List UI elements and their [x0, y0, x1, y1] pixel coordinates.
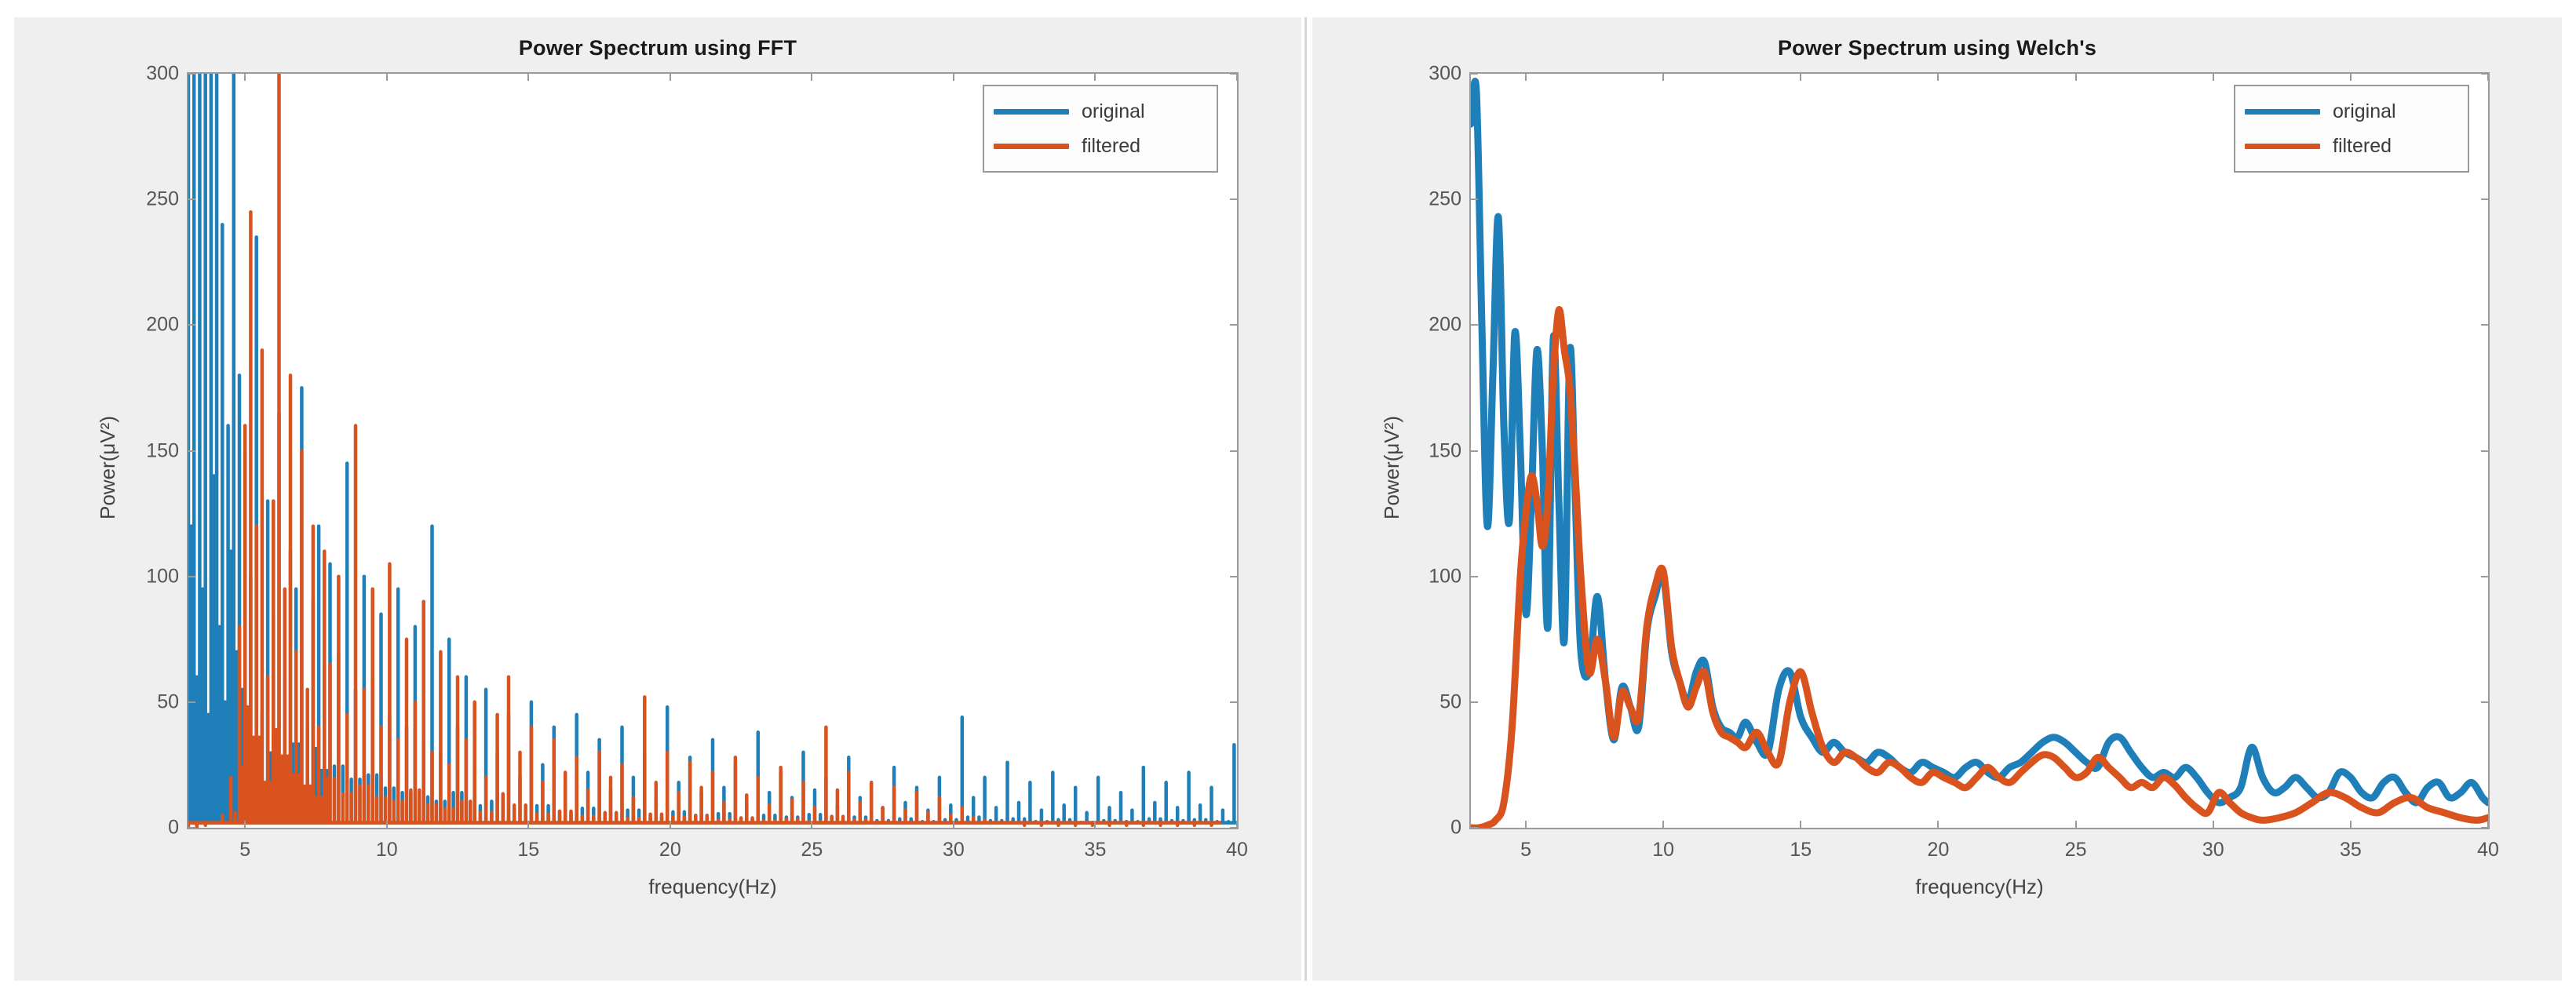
y-tick-label: 100 — [146, 565, 179, 588]
x-tick-label: 30 — [2202, 839, 2224, 861]
legend-label: original — [2333, 100, 2396, 123]
x-tick-label: 15 — [1790, 839, 1812, 861]
panel-welch: Power Spectrum using Welch's 05010015020… — [1312, 17, 2562, 981]
x-tick-mark — [2213, 74, 2214, 81]
y-tick-label: 200 — [146, 314, 179, 337]
axis-label-x-welch: frequency(Hz) — [1471, 875, 2488, 899]
y-tick-mark — [2481, 701, 2488, 703]
legend-item-filtered[interactable]: filtered — [2245, 129, 2455, 163]
legend-item-original[interactable]: original — [994, 94, 1204, 129]
legend-welch[interactable]: originalfiltered — [2234, 85, 2469, 173]
axis-label-x-fft: frequency(Hz) — [188, 875, 1237, 899]
x-tick-mark — [1236, 821, 1238, 828]
x-tick-mark — [953, 821, 954, 828]
x-tick-mark — [1094, 821, 1096, 828]
y-tick-mark — [1471, 701, 1478, 703]
panel-divider — [1304, 17, 1307, 981]
y-tick-mark — [1230, 576, 1237, 577]
series-line-filtered — [188, 74, 1220, 828]
legend-label: original — [1082, 100, 1145, 123]
plot-area-welch — [1471, 74, 2488, 828]
y-tick-label: 250 — [146, 188, 179, 211]
y-tick-mark — [188, 576, 195, 577]
x-tick-label: 30 — [943, 839, 965, 861]
y-tick-mark — [188, 827, 195, 829]
legend-item-filtered[interactable]: filtered — [994, 129, 1204, 163]
panel-fft-title: Power Spectrum using FFT — [14, 36, 1301, 60]
y-tick-mark — [1471, 199, 1478, 200]
y-tick-label: 150 — [146, 439, 179, 462]
x-tick-mark — [1800, 74, 1801, 81]
x-tick-label: 5 — [239, 839, 250, 861]
x-tick-label: 40 — [2477, 839, 2499, 861]
x-tick-mark — [811, 821, 812, 828]
x-tick-mark — [953, 74, 954, 81]
panel-welch-title: Power Spectrum using Welch's — [1312, 36, 2562, 60]
series-line-original — [188, 74, 1235, 823]
legend-fft[interactable]: originalfiltered — [983, 85, 1218, 173]
x-tick-mark — [2075, 74, 2077, 81]
y-tick-label: 50 — [157, 690, 179, 713]
y-tick-label: 50 — [1439, 690, 1461, 713]
y-tick-mark — [188, 701, 195, 703]
legend-swatch-filtered — [994, 144, 1069, 149]
x-tick-mark — [1662, 74, 1664, 81]
y-tick-mark — [188, 450, 195, 452]
y-tick-mark — [1471, 576, 1478, 577]
y-tick-mark — [2481, 576, 2488, 577]
y-tick-label: 300 — [1428, 63, 1461, 86]
y-tick-mark — [2481, 199, 2488, 200]
x-tick-label: 35 — [2340, 839, 2362, 861]
y-tick-mark — [1230, 450, 1237, 452]
series-line-filtered — [1471, 310, 2488, 828]
x-tick-mark — [2487, 821, 2489, 828]
x-tick-label: 20 — [659, 839, 681, 861]
x-tick-mark — [1236, 74, 1238, 81]
x-tick-mark — [670, 821, 671, 828]
y-tick-label: 100 — [1428, 565, 1461, 588]
y-tick-mark — [1230, 199, 1237, 200]
y-tick-mark — [188, 73, 195, 75]
legend-swatch-original — [2245, 109, 2320, 115]
x-tick-mark — [1662, 821, 1664, 828]
legend-label: filtered — [1082, 135, 1140, 158]
legend-swatch-filtered — [2245, 144, 2320, 149]
y-tick-label: 150 — [1428, 439, 1461, 462]
x-tick-label: 20 — [1928, 839, 1950, 861]
x-tick-mark — [527, 74, 529, 81]
figure-canvas: Power Spectrum using FFT 050100150200250… — [0, 0, 2576, 998]
x-tick-mark — [811, 74, 812, 81]
x-tick-mark — [1094, 74, 1096, 81]
x-tick-mark — [1800, 821, 1801, 828]
x-tick-label: 10 — [376, 839, 398, 861]
x-tick-mark — [386, 821, 388, 828]
y-tick-label: 0 — [168, 817, 179, 840]
axes-fft: 050100150200250300510152025303540frequen… — [187, 72, 1239, 829]
y-tick-label: 250 — [1428, 188, 1461, 211]
x-tick-label: 15 — [517, 839, 539, 861]
y-tick-mark — [2481, 324, 2488, 326]
x-tick-label: 35 — [1085, 839, 1107, 861]
y-tick-label: 200 — [1428, 314, 1461, 337]
x-tick-mark — [1937, 74, 1939, 81]
x-tick-mark — [2350, 821, 2352, 828]
x-tick-mark — [2487, 74, 2489, 81]
x-tick-mark — [670, 74, 671, 81]
x-tick-mark — [244, 821, 246, 828]
x-tick-label: 25 — [801, 839, 823, 861]
y-tick-label: 0 — [1450, 817, 1461, 840]
y-tick-mark — [1471, 73, 1478, 75]
axis-label-y-welch: Power(μV²) — [1380, 416, 1404, 519]
x-tick-mark — [244, 74, 246, 81]
x-tick-mark — [2350, 74, 2352, 81]
plot-area-fft — [188, 74, 1237, 828]
x-tick-mark — [527, 821, 529, 828]
y-tick-mark — [2481, 450, 2488, 452]
x-tick-label: 40 — [1226, 839, 1248, 861]
axis-label-y-fft: Power(μV²) — [96, 416, 120, 519]
x-tick-label: 25 — [2065, 839, 2087, 861]
legend-label: filtered — [2333, 135, 2392, 158]
y-tick-mark — [1471, 450, 1478, 452]
y-tick-mark — [1471, 324, 1478, 326]
legend-swatch-original — [994, 109, 1069, 115]
x-tick-label: 5 — [1520, 839, 1531, 861]
y-tick-label: 300 — [146, 63, 179, 86]
x-tick-mark — [1525, 74, 1527, 81]
y-tick-mark — [1230, 701, 1237, 703]
y-tick-mark — [188, 199, 195, 200]
legend-item-original[interactable]: original — [2245, 94, 2455, 129]
y-tick-mark — [1471, 827, 1478, 829]
x-tick-mark — [2213, 821, 2214, 828]
axes-welch: 050100150200250300510152025303540frequen… — [1469, 72, 2490, 829]
panel-fft: Power Spectrum using FFT 050100150200250… — [14, 17, 1301, 981]
x-tick-mark — [2075, 821, 2077, 828]
x-tick-mark — [1525, 821, 1527, 828]
y-tick-mark — [188, 324, 195, 326]
x-tick-label: 10 — [1652, 839, 1674, 861]
x-tick-mark — [386, 74, 388, 81]
x-tick-mark — [1937, 821, 1939, 828]
y-tick-mark — [1230, 324, 1237, 326]
